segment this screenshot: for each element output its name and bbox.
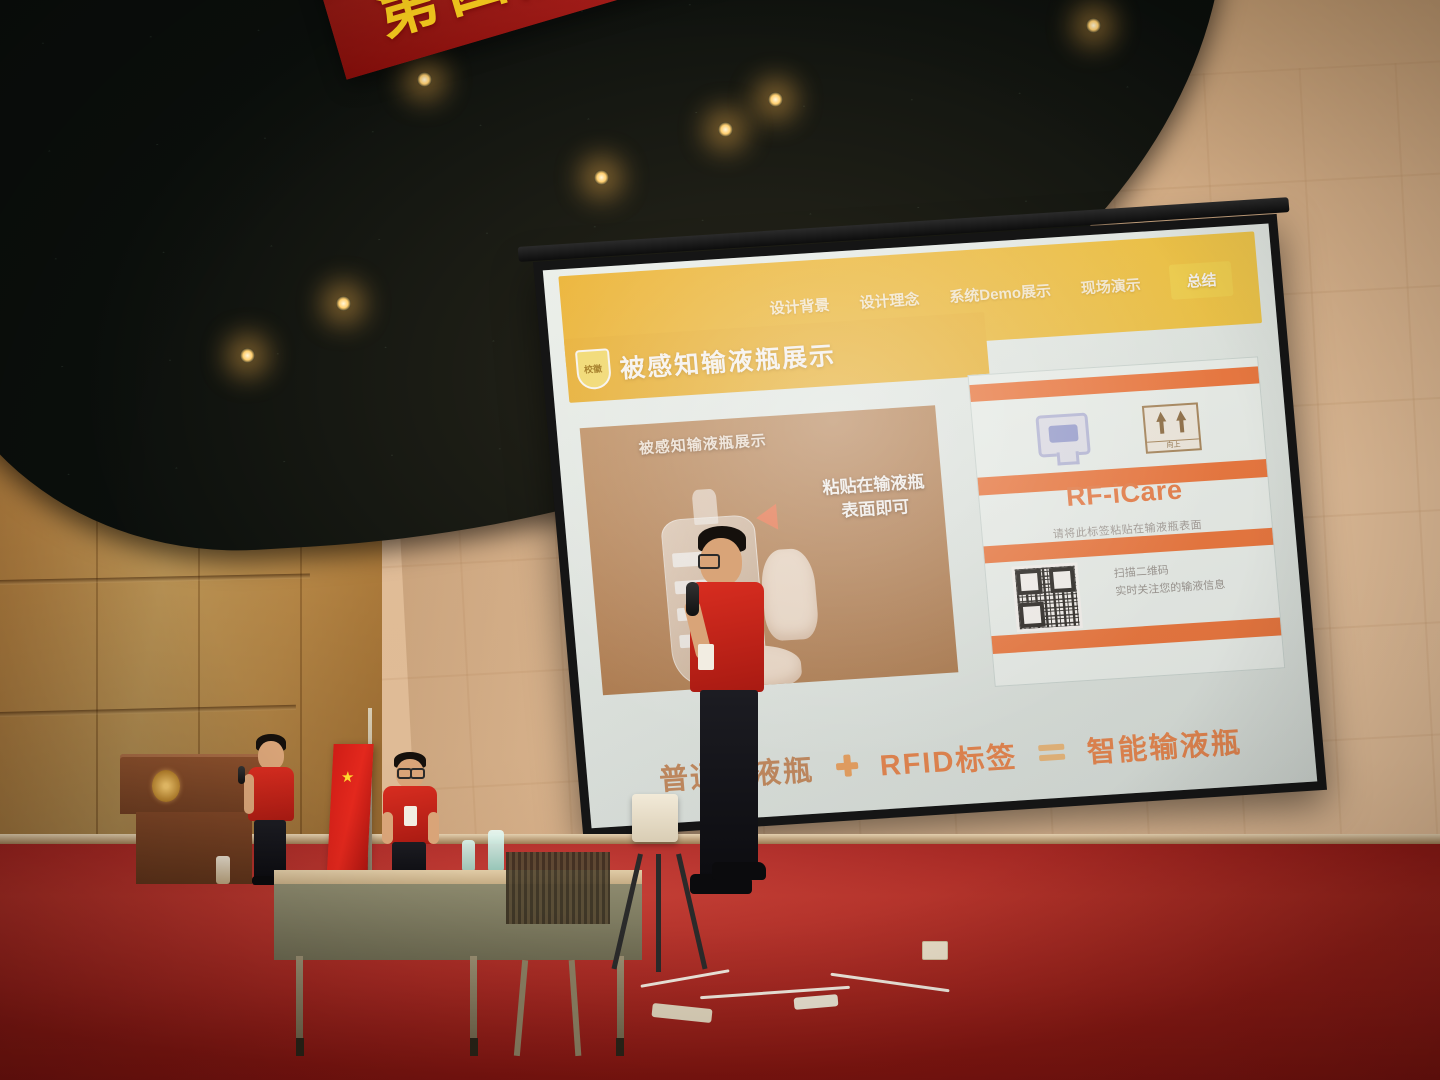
formula-term-rfid-tag: RFID标签	[878, 734, 1019, 785]
qr-instructions: 扫描二维码 实时关注您的输液信息	[1113, 559, 1226, 601]
arm	[428, 812, 439, 844]
water-bottle-floor	[216, 856, 230, 884]
projection-screen: 设计背景 设计理念 系统Demo展示 现场演示 总结 校徽 被感知输液瓶展示 被…	[533, 214, 1327, 838]
shoe	[252, 876, 276, 885]
ceiling-light	[768, 92, 783, 107]
photo-caption-top: 被感知输液瓶展示	[638, 429, 768, 458]
glasses-icon	[410, 768, 425, 779]
slide-nav-item-live[interactable]: 现场演示	[1080, 274, 1142, 299]
trousers	[700, 690, 758, 880]
chinese-national-flag: ★	[326, 744, 373, 884]
ceiling-light	[718, 122, 733, 137]
glasses-icon	[698, 554, 720, 569]
rfid-chip-icon	[1036, 412, 1092, 457]
university-emblem-icon	[152, 770, 180, 802]
ceiling-light	[240, 348, 255, 363]
ceiling-light	[594, 170, 609, 185]
plus-icon	[835, 754, 859, 777]
microphone	[238, 766, 245, 784]
ceiling-light	[336, 296, 351, 311]
slide-nav-item-background[interactable]: 设计背景	[769, 294, 831, 319]
slide-nav-item-summary[interactable]: 总结	[1169, 261, 1234, 300]
this-side-up-caption: 向上	[1147, 438, 1200, 451]
ceiling-light	[1086, 18, 1101, 33]
formula-term-smart-bottle: 智能输液瓶	[1085, 719, 1243, 771]
photo-scene: 第四届全国高校物联网应用创新大赛 设计背景 设计理念 系统Demo展示 现场演示…	[0, 0, 1440, 1080]
slide-nav-item-concept[interactable]: 设计理念	[859, 289, 921, 314]
lanyard-badge	[404, 806, 417, 826]
university-crest-icon: 校徽	[574, 348, 611, 390]
slide-nav-item-demo[interactable]: 系统Demo展示	[948, 280, 1051, 307]
this-side-up-icon: 向上	[1142, 402, 1202, 453]
arm	[382, 812, 393, 844]
flag-star-icon: ★	[341, 770, 355, 785]
red-polo-shirt	[248, 767, 294, 821]
presenter-speaker	[684, 526, 780, 908]
chair	[498, 852, 618, 964]
arm	[244, 774, 254, 814]
head	[258, 741, 284, 770]
rfid-reader-device	[632, 794, 678, 842]
qr-code-icon	[1012, 562, 1084, 632]
podium-speaker	[242, 734, 304, 884]
microphone	[686, 582, 699, 616]
ceiling-light	[417, 72, 432, 87]
iv-bottle-sample	[462, 840, 475, 874]
slide-title: 被感知输液瓶展示	[619, 336, 838, 386]
lanyard-badge	[698, 644, 714, 670]
wall-socket	[922, 941, 948, 960]
shoe	[712, 862, 766, 880]
presentation-slide: 设计背景 设计理念 系统Demo展示 现场演示 总结 校徽 被感知输液瓶展示 被…	[543, 223, 1317, 828]
team-member	[378, 752, 446, 880]
rf-icare-label-card: 向上 RF-iCare 请将此标签粘贴在输液瓶表面 扫描二维码 实时关注您的输液…	[968, 356, 1286, 687]
photo-caption-right: 粘贴在输液瓶 表面即可	[821, 470, 927, 524]
equals-icon	[1038, 741, 1066, 763]
